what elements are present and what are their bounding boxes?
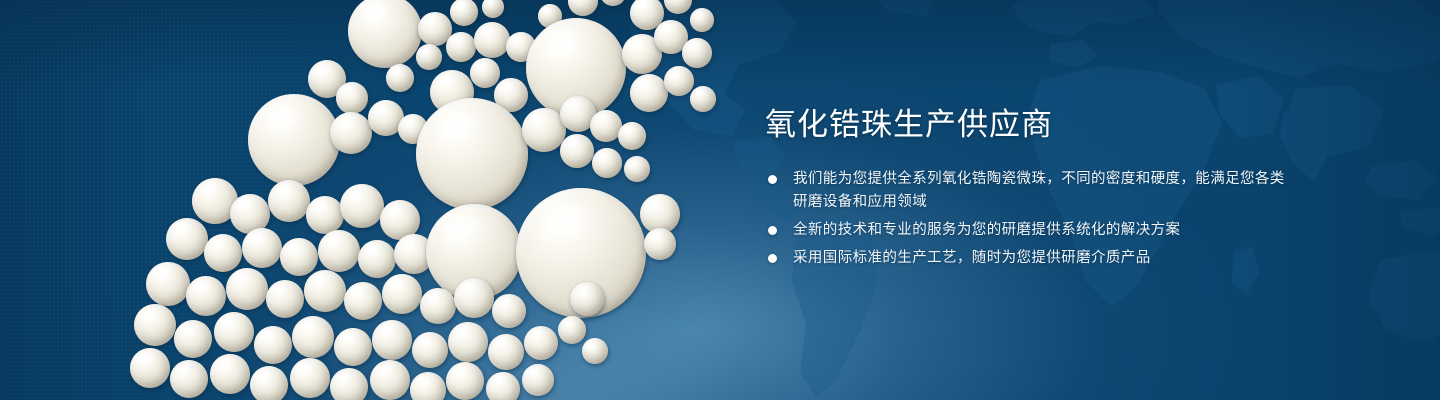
- banner-bullet-list: 我们能为您提供全系列氧化锆陶瓷微珠，不同的密度和硬度，能满足您各类研磨设备和应用…: [765, 168, 1285, 270]
- zirconia-beads-cluster: [130, 0, 750, 400]
- hero-banner: 氧化锆珠生产供应商 我们能为您提供全系列氧化锆陶瓷微珠，不同的密度和硬度，能满足…: [0, 0, 1440, 400]
- banner-bullet-text: 我们能为您提供全系列氧化锆陶瓷微珠，不同的密度和硬度，能满足您各类研磨设备和应用…: [793, 168, 1285, 214]
- banner-bullet-item: 我们能为您提供全系列氧化锆陶瓷微珠，不同的密度和硬度，能满足您各类研磨设备和应用…: [765, 168, 1285, 214]
- banner-headline: 氧化锆珠生产供应商: [765, 108, 1285, 142]
- bullet-dot-icon: [768, 226, 777, 235]
- bullet-dot-icon: [768, 254, 777, 263]
- banner-bullet-item: 采用国际标准的生产工艺，随时为您提供研磨介质产品: [765, 247, 1285, 270]
- banner-bullet-item: 全新的技术和专业的服务为您的研磨提供系统化的解决方案: [765, 219, 1285, 242]
- bullet-dot-icon: [768, 175, 777, 184]
- banner-bullet-text: 全新的技术和专业的服务为您的研磨提供系统化的解决方案: [793, 219, 1285, 242]
- banner-bullet-text: 采用国际标准的生产工艺，随时为您提供研磨介质产品: [793, 247, 1285, 270]
- banner-copy: 氧化锆珠生产供应商 我们能为您提供全系列氧化锆陶瓷微珠，不同的密度和硬度，能满足…: [765, 108, 1285, 270]
